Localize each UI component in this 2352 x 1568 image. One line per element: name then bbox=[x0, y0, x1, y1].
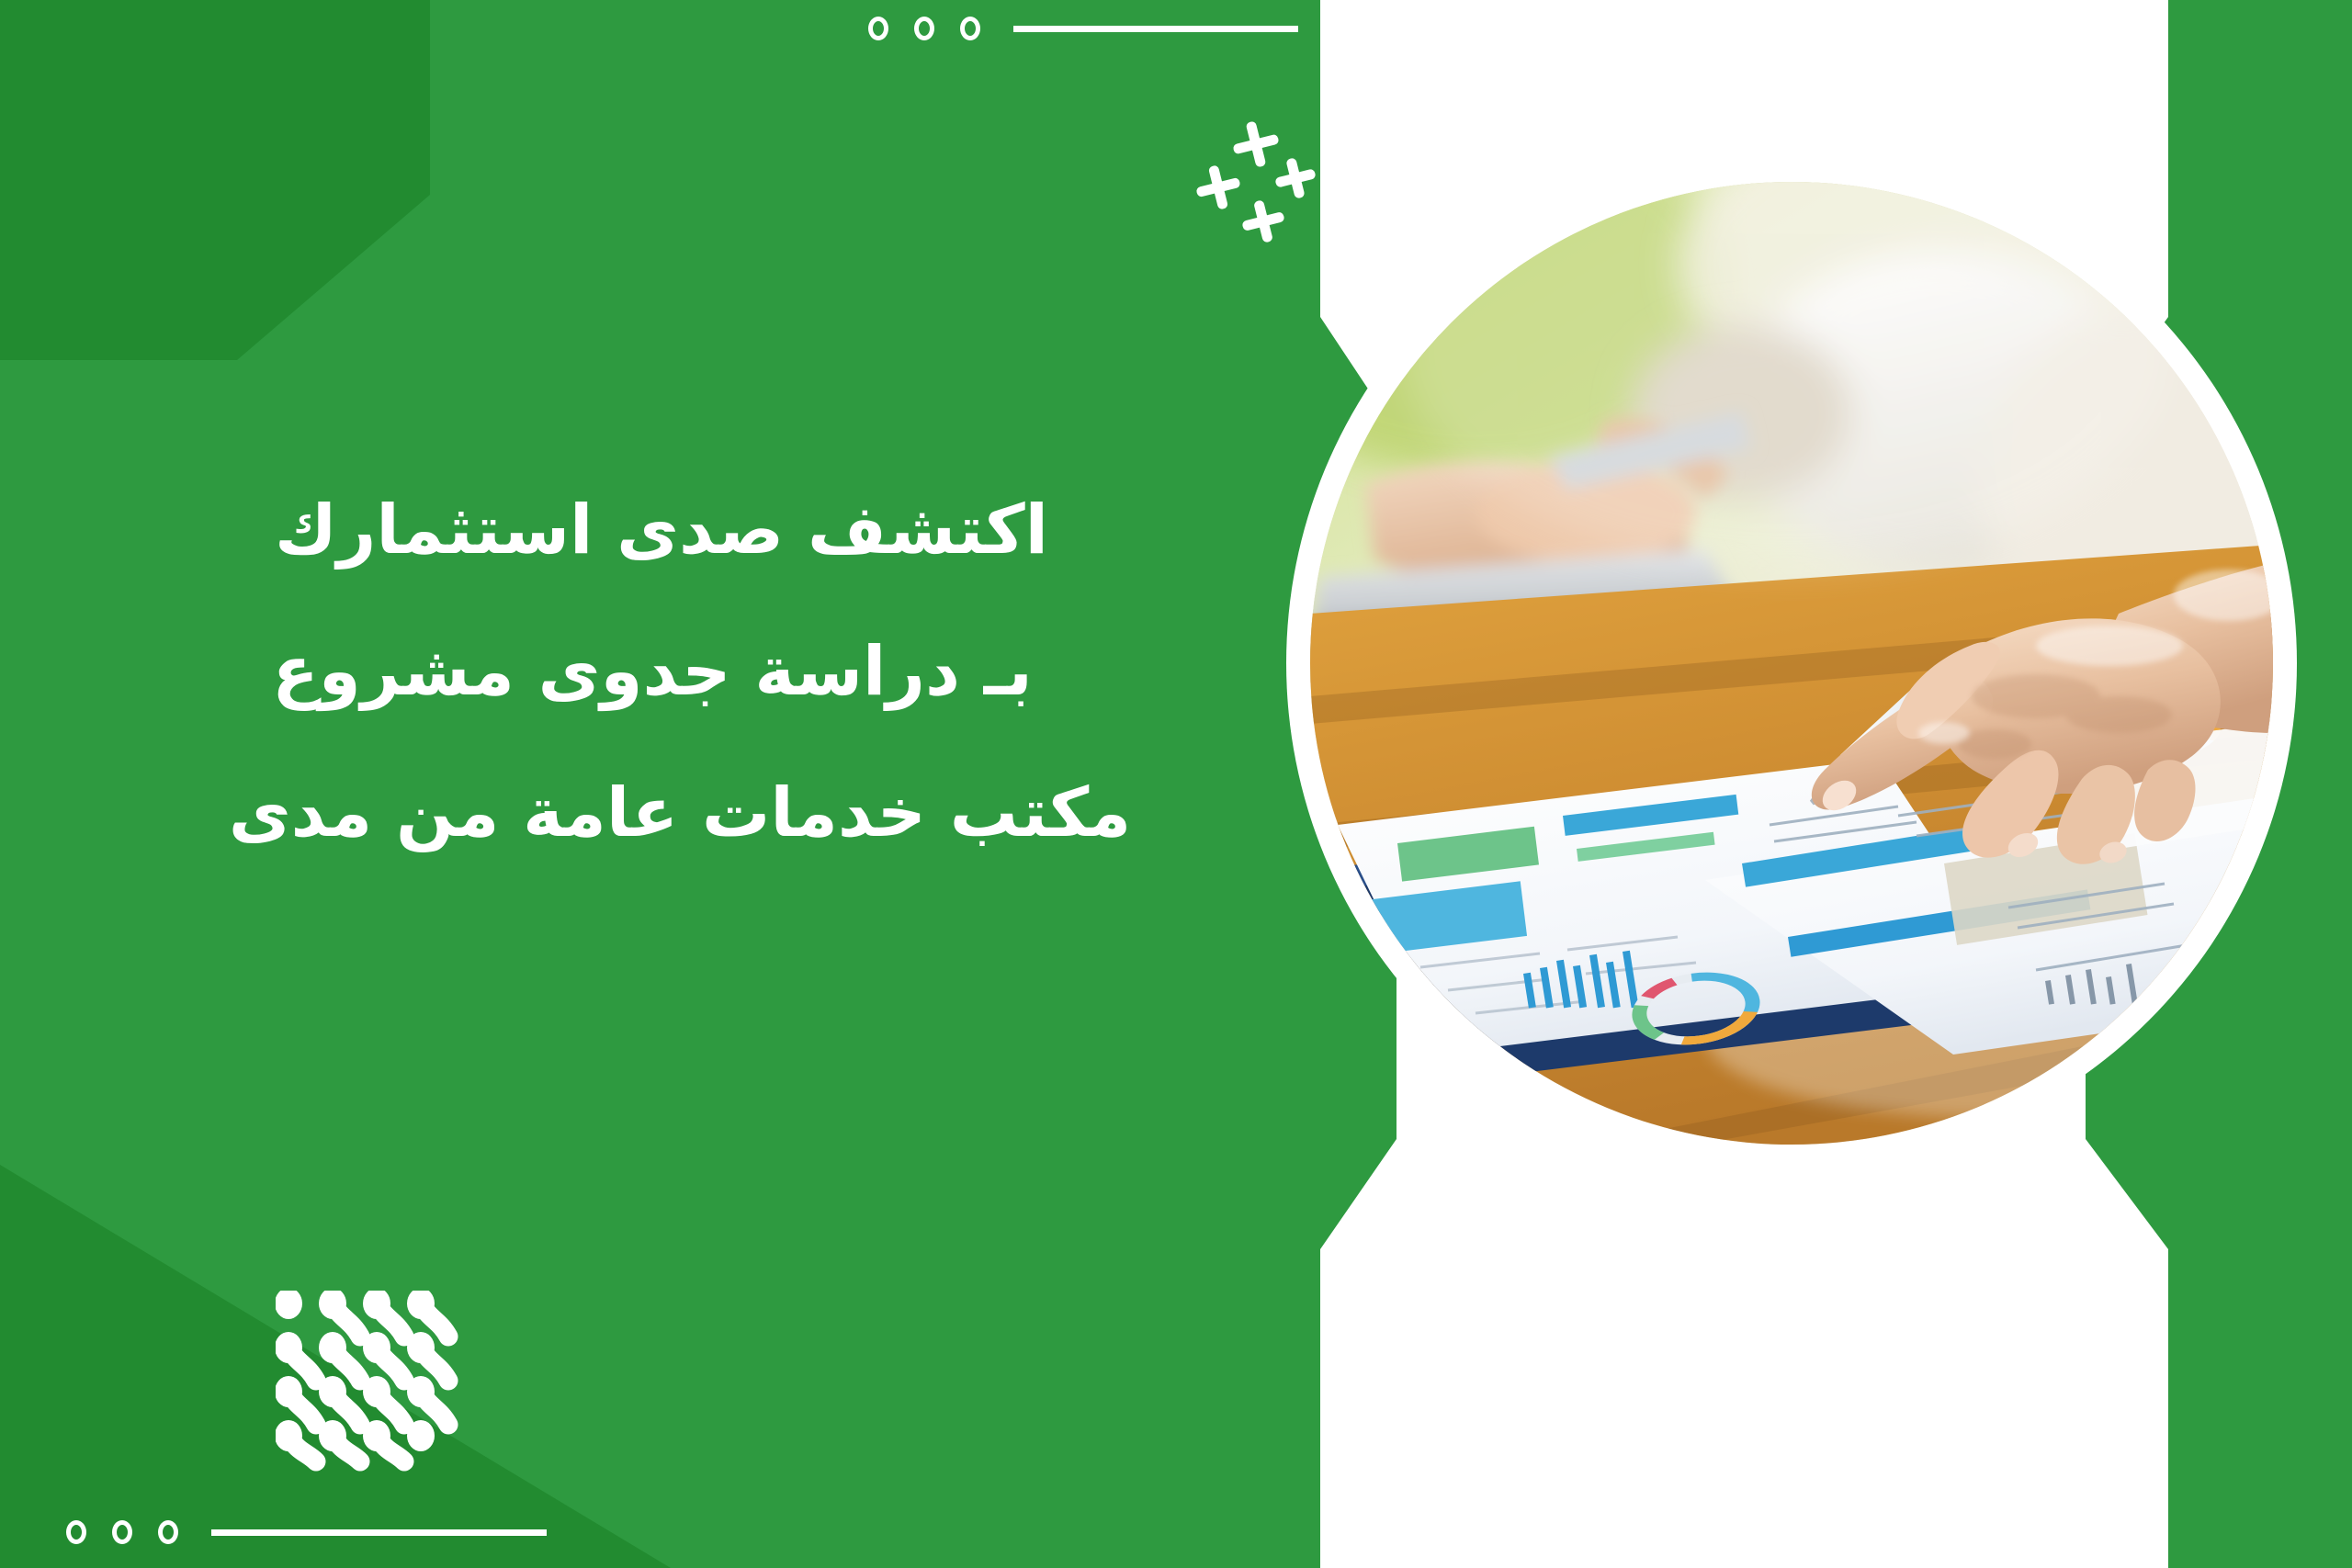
headline-line-3: مكتب خدمات عامة من مدى bbox=[0, 779, 1259, 847]
horizontal-rule bbox=[211, 1529, 547, 1536]
dot-icon bbox=[914, 17, 934, 40]
headline-line-2: بـ دراسة جدوى مشروع bbox=[0, 637, 1259, 705]
plus-icon bbox=[1238, 196, 1289, 247]
poster-canvas: اكتشف صدى استثمارك بـ دراسة جدوى مشروع م… bbox=[0, 0, 2352, 1568]
headline: اكتشف صدى استثمارك بـ دراسة جدوى مشروع م… bbox=[0, 496, 1259, 847]
bottom-dots-rule bbox=[66, 1520, 547, 1544]
dot-icon bbox=[112, 1520, 132, 1544]
horizontal-rule bbox=[1013, 26, 1298, 32]
dot-icon bbox=[66, 1520, 86, 1544]
plus-sparkles bbox=[1176, 119, 1360, 266]
dot-icon bbox=[868, 17, 888, 40]
dot-icon bbox=[158, 1520, 178, 1544]
business-analysis-photo bbox=[1310, 182, 2273, 1145]
mada-logo-icon bbox=[276, 1291, 459, 1474]
dot-icon bbox=[960, 17, 980, 40]
headline-line-1: اكتشف صدى استثمارك bbox=[0, 496, 1259, 564]
top-dots-rule bbox=[868, 17, 1298, 40]
